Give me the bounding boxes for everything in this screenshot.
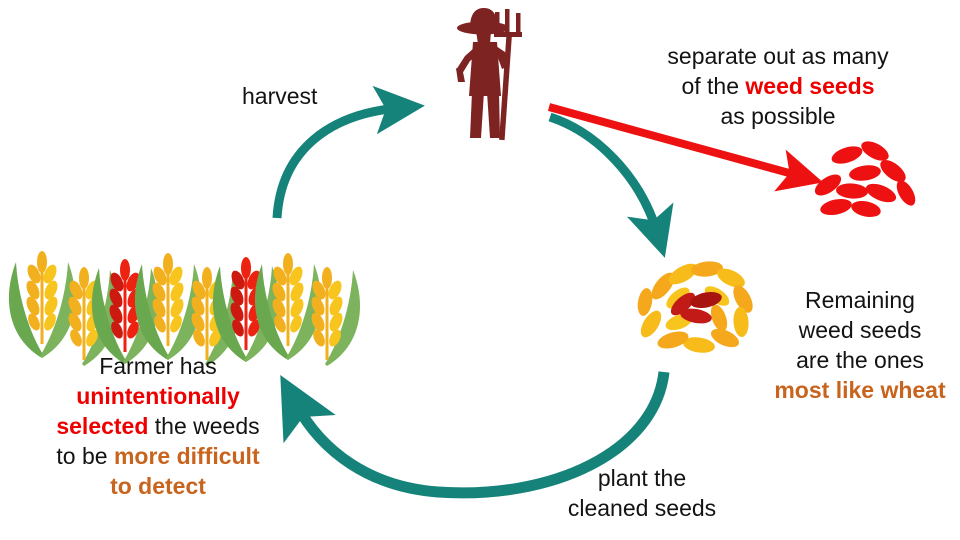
most-like-wheat-highlight: most like wheat (762, 376, 958, 406)
remaining-callout: Remaining weed seeds are the ones most l… (762, 286, 958, 406)
remaining-line-3: are the ones (762, 346, 958, 376)
remaining-line-2: weed seeds (762, 316, 958, 346)
separate-callout: separate out as many of the weed seeds a… (634, 42, 922, 132)
wheat-stalks-icon (12, 238, 352, 368)
plant-line-2: cleaned seeds (552, 494, 732, 524)
separate-line-1: separate out as many (634, 42, 922, 72)
separate-line-3: as possible (634, 102, 922, 132)
farmer-with-pitchfork-icon (443, 4, 563, 144)
farmer-note-line-3-rest: the weeds (148, 413, 259, 439)
mixed-seed-cluster-icon (633, 252, 763, 362)
to-detect-highlight: to detect (38, 472, 278, 502)
wheat-stalk (9, 251, 75, 358)
selected-highlight: selected (56, 413, 148, 439)
red-weed-seed-cluster-icon (805, 135, 925, 225)
farmer-note-line-3: selected the weeds (38, 412, 278, 442)
separate-line-2-prefix: of the (681, 73, 745, 99)
more-difficult-highlight: more difficult (114, 443, 260, 469)
remaining-line-1: Remaining (762, 286, 958, 316)
harvest-text: harvest (242, 82, 317, 112)
diagram-canvas: harvest separate out as many of the weed… (0, 0, 960, 540)
farmer-note-line-1: Farmer has (38, 352, 278, 382)
weed-seeds-highlight: weed seeds (745, 73, 874, 99)
plant-line-1: plant the (552, 464, 732, 494)
farmer-note-line-4-prefix: to be (56, 443, 114, 469)
farmer-note-callout: Farmer has unintentionally selected the … (38, 352, 278, 501)
harvest-arrow (277, 108, 398, 218)
farmer-note-line-4: to be more difficult (38, 442, 278, 472)
separate-line-2: of the weed seeds (634, 72, 922, 102)
plant-label: plant the cleaned seeds (552, 464, 732, 524)
harvest-label: harvest (242, 82, 317, 112)
unintentionally-highlight: unintentionally (38, 382, 278, 412)
